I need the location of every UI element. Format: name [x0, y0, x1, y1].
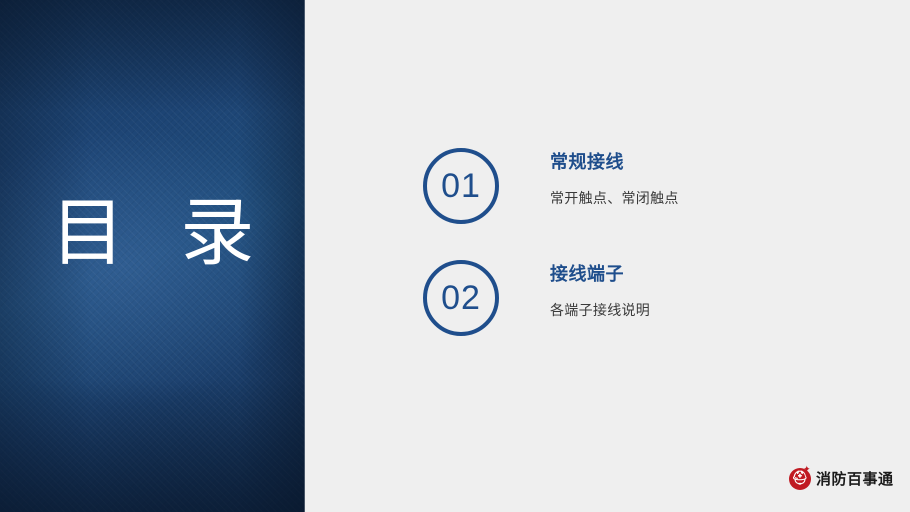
list-item[interactable]: 01 常规接线 常开触点、常闭触点	[423, 148, 863, 248]
fire-extinguisher-icon: ⛑ ✦	[789, 468, 811, 490]
page-title: 目 录	[0, 196, 305, 270]
toc-text-block-01: 常规接线 常开触点、常闭触点	[550, 152, 860, 209]
toc-text-block-02: 接线端子 各端子接线说明	[550, 264, 860, 321]
brand-name: 消防百事通	[816, 468, 894, 490]
spark-icon: ✦	[803, 467, 810, 474]
toc-number-badge-02: 02	[423, 260, 499, 336]
slide-canvas: 目 录 01 常规接线 常开触点、常闭触点 02 接线端子 各端子接线说明 ⛑ …	[0, 0, 910, 512]
toc-number-badge-01: 01	[423, 148, 499, 224]
list-item[interactable]: 02 接线端子 各端子接线说明	[423, 260, 863, 360]
toc-item-subtitle: 各端子接线说明	[550, 301, 860, 321]
table-of-contents: 01 常规接线 常开触点、常闭触点 02 接线端子 各端子接线说明	[423, 148, 863, 372]
toc-item-title: 接线端子	[550, 264, 860, 286]
toc-item-subtitle: 常开触点、常闭触点	[550, 189, 860, 209]
toc-item-title: 常规接线	[550, 152, 860, 174]
brand-logo: ⛑ ✦ 消防百事通	[789, 468, 894, 490]
